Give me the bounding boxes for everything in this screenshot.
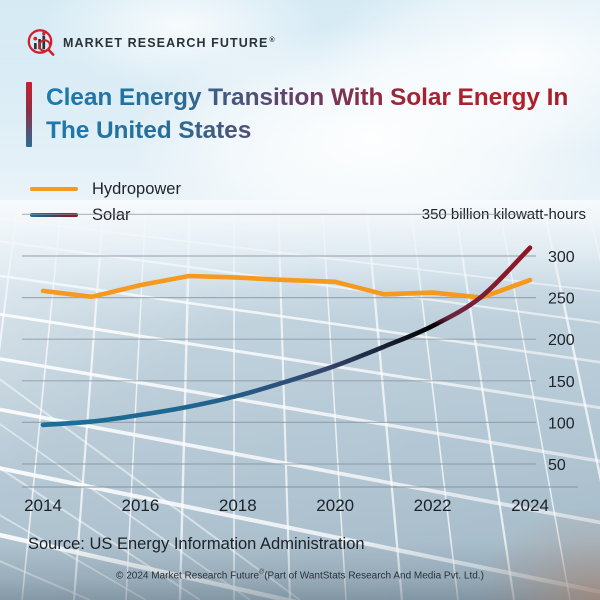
chart-gridlines [22, 214, 536, 464]
y-axis-tick-label: 200 [548, 332, 575, 349]
y-axis-tick-label: 300 [548, 249, 575, 266]
x-axis-tick-label: 2016 [121, 496, 159, 515]
y-axis-tick-label: 50 [548, 457, 566, 474]
copyright-note: © 2024 Market Research Future®(Part of W… [0, 569, 600, 581]
x-axis-tick-label: 2022 [414, 496, 452, 515]
copyright-suffix: (Part of WantStats Research And Media Pv… [264, 570, 484, 581]
copyright-prefix: © 2024 Market Research Future [116, 570, 259, 581]
y-axis-tick-label: 150 [548, 374, 575, 391]
y-axis-tick-label: 100 [548, 415, 575, 432]
series-line-solar [43, 248, 530, 425]
x-axis-tick-label: 2018 [219, 496, 257, 515]
x-axis-tick-label: 2014 [24, 496, 62, 515]
y-axis-tick-label: 250 [548, 291, 575, 308]
infographic-canvas: MARKET RESEARCH FUTURE® Clean Energy Tra… [0, 0, 600, 600]
x-axis-tick-label: 2024 [511, 496, 549, 515]
x-axis-tick-label: 2020 [316, 496, 354, 515]
y-axis-ticks: 30025020015010050 [548, 249, 575, 474]
x-axis-ticks: 201420162018202020222024 [24, 496, 549, 515]
line-chart: 30025020015010050 2014201620182020202220… [0, 0, 600, 600]
source-note: Source: US Energy Information Administra… [28, 535, 365, 554]
series-line-hydropower [43, 276, 530, 298]
